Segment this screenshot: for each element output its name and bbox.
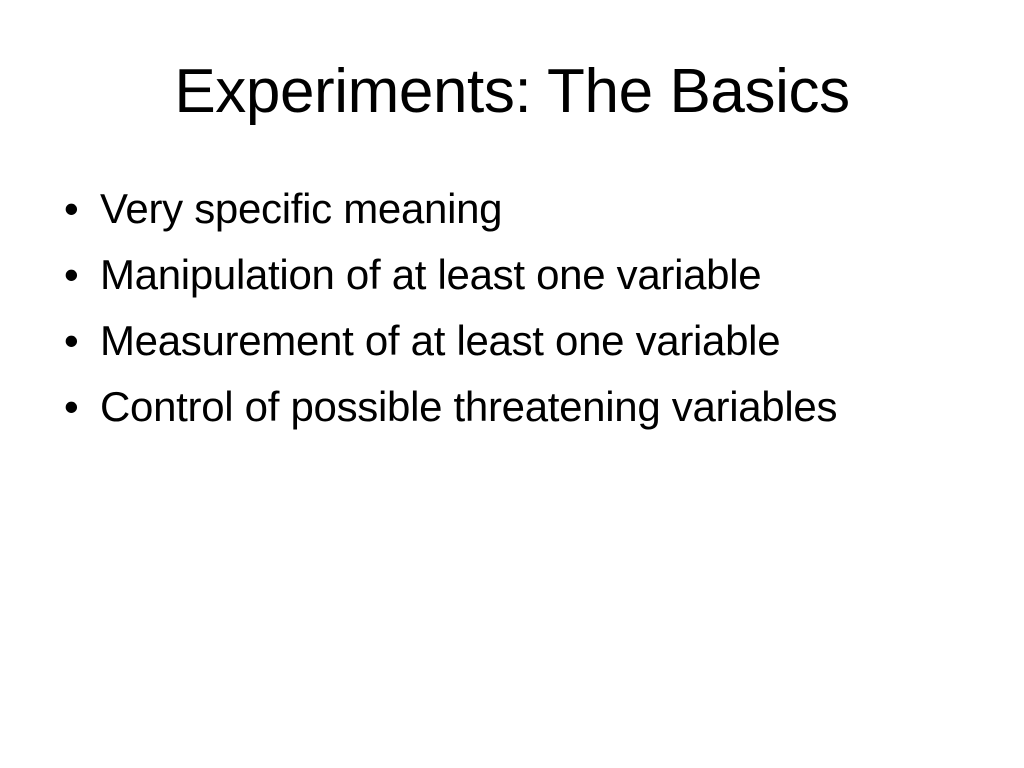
bullet-dot-icon: • bbox=[56, 186, 100, 232]
list-item: • Very specific meaning bbox=[56, 186, 956, 252]
bullet-list: • Very specific meaning • Manipulation o… bbox=[56, 186, 956, 450]
bullet-dot-icon: • bbox=[56, 384, 100, 430]
list-item: • Manipulation of at least one variable bbox=[56, 252, 956, 318]
list-item: • Measurement of at least one variable bbox=[56, 318, 956, 384]
slide-canvas: Experiments: The Basics • Very specific … bbox=[0, 0, 1024, 768]
page-title: Experiments: The Basics bbox=[0, 57, 1024, 127]
list-item-label: Very specific meaning bbox=[100, 186, 956, 232]
bullet-dot-icon: • bbox=[56, 252, 100, 298]
list-item-label: Measurement of at least one variable bbox=[100, 318, 956, 364]
bullet-dot-icon: • bbox=[56, 318, 100, 364]
list-item: • Control of possible threatening variab… bbox=[56, 384, 956, 450]
list-item-label: Manipulation of at least one variable bbox=[100, 252, 956, 298]
list-item-label: Control of possible threatening variable… bbox=[100, 384, 956, 430]
